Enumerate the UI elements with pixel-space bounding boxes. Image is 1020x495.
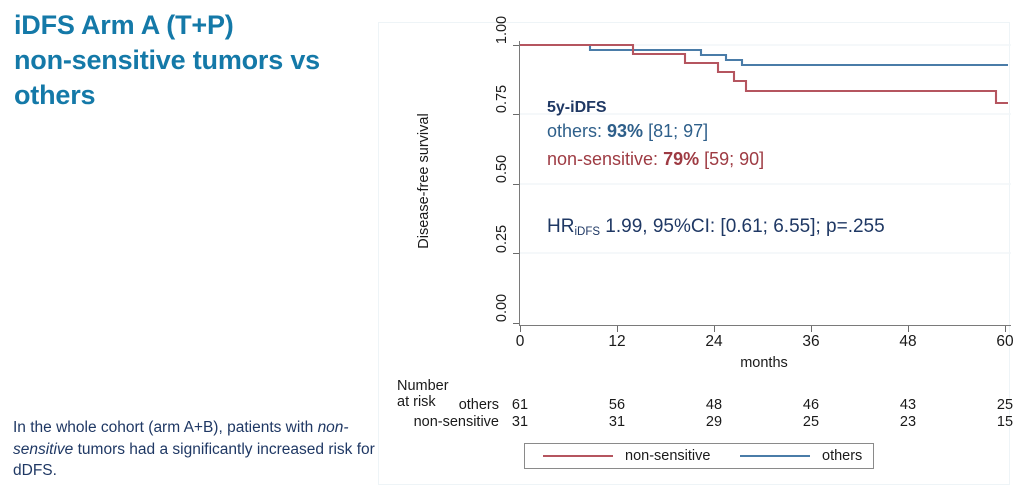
title-line-3: others [14, 78, 374, 113]
survival-curves-svg [379, 23, 1011, 363]
risk-value-others-0: 61 [500, 397, 540, 413]
hr-prefix: HR [547, 216, 574, 237]
annotation-ns-value: 79% [663, 149, 699, 169]
chart-panel: Disease-free survival 1.00 0.75 0.50 0.2… [378, 22, 1010, 485]
title-line-1: iDFS Arm A (T+P) [14, 8, 374, 43]
risk-value-ns-12: 31 [597, 414, 637, 430]
footnote-part-1: In the whole cohort (arm A+B), patients … [13, 419, 318, 436]
legend-swatch-non-sensitive [543, 455, 613, 457]
x-tick-mark-24 [714, 326, 715, 332]
x-tick-label-0: 0 [500, 333, 540, 351]
chart-legend: non-sensitive others [524, 443, 874, 469]
annotation-non-sensitive: non-sensitive: 79% [59; 90] [547, 149, 764, 170]
annotation-others-ci: [81; 97] [643, 121, 708, 141]
x-axis-title: months [694, 355, 834, 371]
kaplan-meier-plot: Disease-free survival 1.00 0.75 0.50 0.2… [379, 23, 1011, 486]
risk-value-ns-36: 25 [791, 414, 831, 430]
risk-value-others-24: 48 [694, 397, 734, 413]
annotation-ns-label: non-sensitive: [547, 149, 663, 169]
x-tick-label-24: 24 [694, 333, 734, 351]
risk-value-others-36: 46 [791, 397, 831, 413]
x-tick-label-12: 12 [597, 333, 637, 351]
risk-row-label-non-sensitive: non-sensitive [379, 414, 499, 430]
slide: iDFS Arm A (T+P) non-sensitive tumors vs… [0, 0, 1020, 495]
risk-value-others-60: 25 [985, 397, 1020, 413]
curve-non-sensitive [520, 45, 1008, 103]
page-title: iDFS Arm A (T+P) non-sensitive tumors vs… [14, 8, 374, 113]
x-tick-mark-0 [520, 326, 521, 332]
risk-value-ns-24: 29 [694, 414, 734, 430]
risk-row-label-others: others [379, 397, 499, 413]
legend-swatch-others [740, 455, 810, 457]
footnote-text: In the whole cohort (arm A+B), patients … [13, 417, 375, 482]
annotation-others-label: others: [547, 121, 607, 141]
annotation-ns-ci: [59; 90] [699, 149, 764, 169]
curve-others [520, 45, 1008, 65]
annotation-others: others: 93% [81; 97] [547, 121, 708, 142]
x-tick-mark-48 [908, 326, 909, 332]
risk-value-ns-48: 23 [888, 414, 928, 430]
risk-value-ns-0: 31 [500, 414, 540, 430]
risk-value-others-12: 56 [597, 397, 637, 413]
risk-value-ns-60: 15 [985, 414, 1020, 430]
annotation-others-value: 93% [607, 121, 643, 141]
x-tick-mark-12 [617, 326, 618, 332]
legend-label-others: others [822, 448, 862, 464]
x-tick-mark-60 [1005, 326, 1006, 332]
hr-rest: 1.99, 95%CI: [0.61; 6.55]; p=.255 [600, 216, 885, 237]
x-tick-mark-36 [811, 326, 812, 332]
x-tick-label-48: 48 [888, 333, 928, 351]
hr-subscript: iDFS [574, 226, 600, 238]
legend-label-non-sensitive: non-sensitive [625, 448, 710, 464]
annotation-hazard-ratio: HRiDFS 1.99, 95%CI: [0.61; 6.55]; p=.255 [547, 216, 885, 238]
x-tick-label-36: 36 [791, 333, 831, 351]
risk-value-others-48: 43 [888, 397, 928, 413]
x-tick-label-60: 60 [985, 333, 1020, 351]
title-line-2: non-sensitive tumors vs [14, 43, 374, 78]
annotation-heading: 5y-iDFS [547, 99, 607, 117]
